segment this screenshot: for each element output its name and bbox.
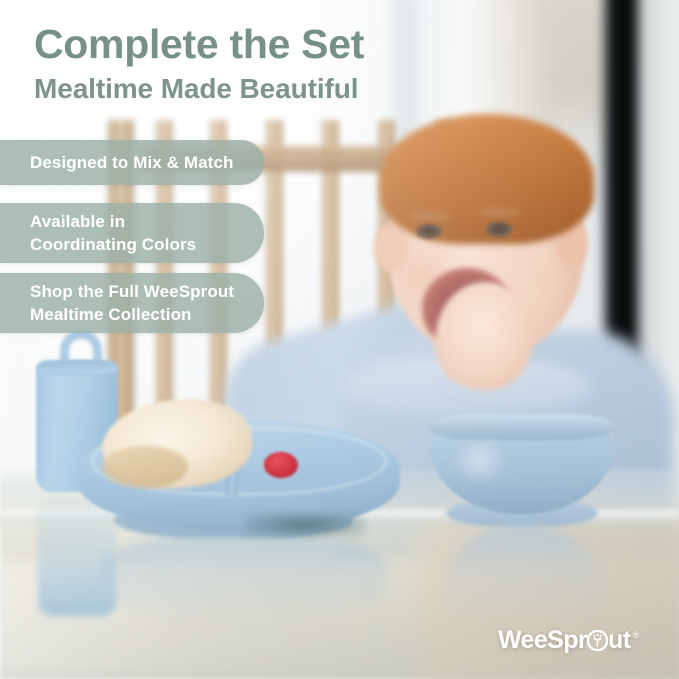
badge-coordinating-colors-label: Available in Coordinating Colors [30, 210, 196, 257]
headline-block: Complete the Set Mealtime Made Beautiful [34, 22, 594, 106]
child-eyebrow-left [410, 212, 450, 220]
badge-full-collection[interactable]: Shop the Full WeeSprout Mealtime Collect… [0, 273, 264, 333]
logo-text-after: ut [608, 628, 630, 653]
logo-text-before: WeeSpr [498, 628, 587, 653]
bowl-highlight [452, 436, 508, 486]
page-subtitle: Mealtime Made Beautiful [34, 72, 594, 106]
weesprout-logo: WeeSpr ut ® [498, 628, 639, 653]
raspberry [264, 452, 298, 478]
divided-suction-plate [78, 420, 400, 532]
product-lifestyle-image: Complete the Set Mealtime Made Beautiful… [0, 0, 679, 679]
food-crust [102, 446, 188, 488]
badge-mix-match-label: Designed to Mix & Match [30, 151, 234, 174]
badge-mix-match[interactable]: Designed to Mix & Match [0, 140, 264, 185]
page-title: Complete the Set [34, 22, 594, 68]
child-hair [380, 114, 594, 244]
sprout-icon [587, 630, 608, 651]
suction-bowl [424, 418, 620, 530]
child-eyebrow-right [480, 208, 520, 216]
cup-rim [36, 360, 118, 376]
registered-trademark-symbol: ® [632, 630, 639, 640]
child-eye-left [416, 224, 442, 239]
logo-wordmark: WeeSpr ut [498, 628, 630, 653]
badge-coordinating-colors[interactable]: Available in Coordinating Colors [0, 203, 264, 263]
badge-full-collection-label: Shop the Full WeeSprout Mealtime Collect… [30, 280, 234, 327]
plate-shadow [246, 512, 366, 538]
plate-reflection [98, 532, 388, 622]
